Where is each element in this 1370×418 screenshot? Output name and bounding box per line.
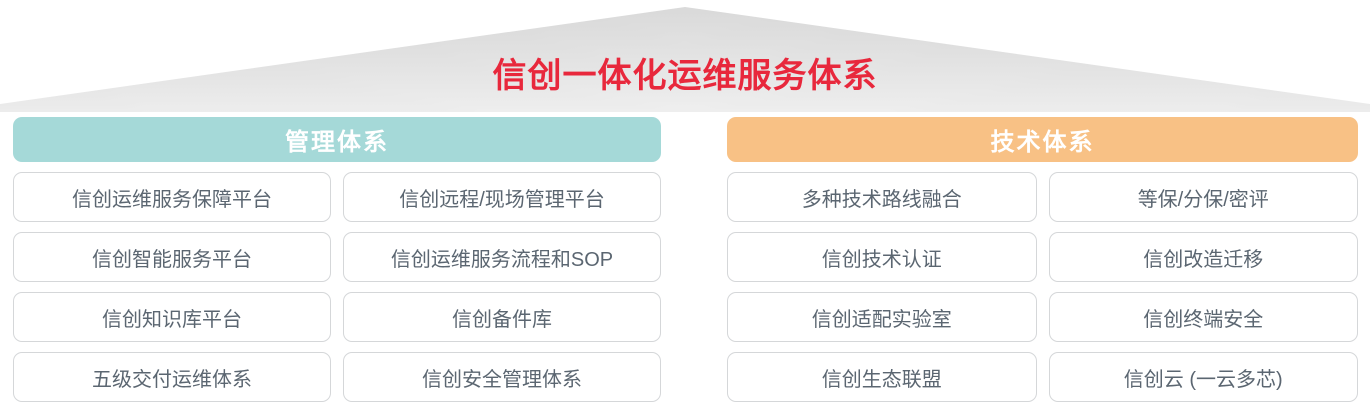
group-technology: 技术体系 多种技术路线融合 信创技术认证 信创适配实验室 信创生态联盟 等保/分… xyxy=(727,117,1358,402)
item-cell[interactable]: 信创智能服务平台 xyxy=(13,232,331,282)
item-cell[interactable]: 信创运维服务保障平台 xyxy=(13,172,331,222)
group-management: 管理体系 信创运维服务保障平台 信创智能服务平台 信创知识库平台 五级交付运维体… xyxy=(13,117,661,402)
item-cell[interactable]: 信创运维服务流程和SOP xyxy=(343,232,661,282)
page-title: 信创一体化运维服务体系 xyxy=(0,55,1370,97)
item-cell[interactable]: 信创生态联盟 xyxy=(727,352,1037,402)
item-cell[interactable]: 信创安全管理体系 xyxy=(343,352,661,402)
systems-container: 管理体系 信创运维服务保障平台 信创智能服务平台 信创知识库平台 五级交付运维体… xyxy=(0,117,1370,418)
column-technology-1: 多种技术路线融合 信创技术认证 信创适配实验室 信创生态联盟 xyxy=(727,172,1037,402)
item-cell[interactable]: 信创知识库平台 xyxy=(13,292,331,342)
item-cell[interactable]: 信创适配实验室 xyxy=(727,292,1037,342)
item-cell[interactable]: 信创改造迁移 xyxy=(1049,232,1359,282)
group-columns-technology: 多种技术路线融合 信创技术认证 信创适配实验室 信创生态联盟 等保/分保/密评 … xyxy=(727,172,1358,402)
group-columns-management: 信创运维服务保障平台 信创智能服务平台 信创知识库平台 五级交付运维体系 信创远… xyxy=(13,172,661,402)
column-management-2: 信创远程/现场管理平台 信创运维服务流程和SOP 信创备件库 信创安全管理体系 xyxy=(343,172,661,402)
item-cell[interactable]: 五级交付运维体系 xyxy=(13,352,331,402)
item-cell[interactable]: 多种技术路线融合 xyxy=(727,172,1037,222)
group-header-technology: 技术体系 xyxy=(727,117,1358,162)
item-cell[interactable]: 信创终端安全 xyxy=(1049,292,1359,342)
item-cell[interactable]: 信创备件库 xyxy=(343,292,661,342)
group-header-management: 管理体系 xyxy=(13,117,661,162)
item-cell[interactable]: 等保/分保/密评 xyxy=(1049,172,1359,222)
column-management-1: 信创运维服务保障平台 信创智能服务平台 信创知识库平台 五级交付运维体系 xyxy=(13,172,331,402)
item-cell[interactable]: 信创远程/现场管理平台 xyxy=(343,172,661,222)
item-cell[interactable]: 信创技术认证 xyxy=(727,232,1037,282)
column-technology-2: 等保/分保/密评 信创改造迁移 信创终端安全 信创云 (一云多芯) xyxy=(1049,172,1359,402)
item-cell[interactable]: 信创云 (一云多芯) xyxy=(1049,352,1359,402)
